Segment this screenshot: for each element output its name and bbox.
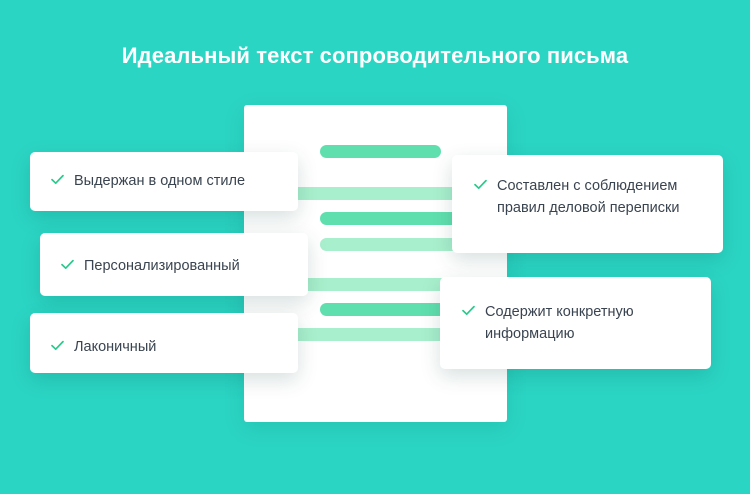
card-label: Персонализированный: [84, 255, 240, 277]
card-label: Составлен с соблюдением правил деловой п…: [497, 175, 707, 219]
check-icon: [461, 303, 476, 318]
page-title: Идеальный текст сопроводительного письма: [0, 42, 750, 70]
check-icon: [50, 338, 65, 353]
card-label: Содержит конкретную информацию: [485, 301, 695, 345]
check-icon: [60, 257, 75, 272]
card-consistent-style[interactable]: Выдержан в одном стиле: [30, 152, 298, 211]
check-icon: [50, 172, 65, 187]
check-icon: [473, 177, 488, 192]
card-personalized[interactable]: Персонализированный: [40, 233, 308, 296]
card-specific-info[interactable]: Содержит конкретную информацию: [440, 277, 711, 369]
card-concise[interactable]: Лаконичный: [30, 313, 298, 373]
card-business-rules[interactable]: Составлен с соблюдением правил деловой п…: [452, 155, 723, 253]
infographic-canvas: Идеальный текст сопроводительного письма…: [0, 0, 750, 494]
text-bar: [320, 145, 441, 158]
card-label: Лаконичный: [74, 336, 156, 358]
card-label: Выдержан в одном стиле: [74, 170, 245, 192]
